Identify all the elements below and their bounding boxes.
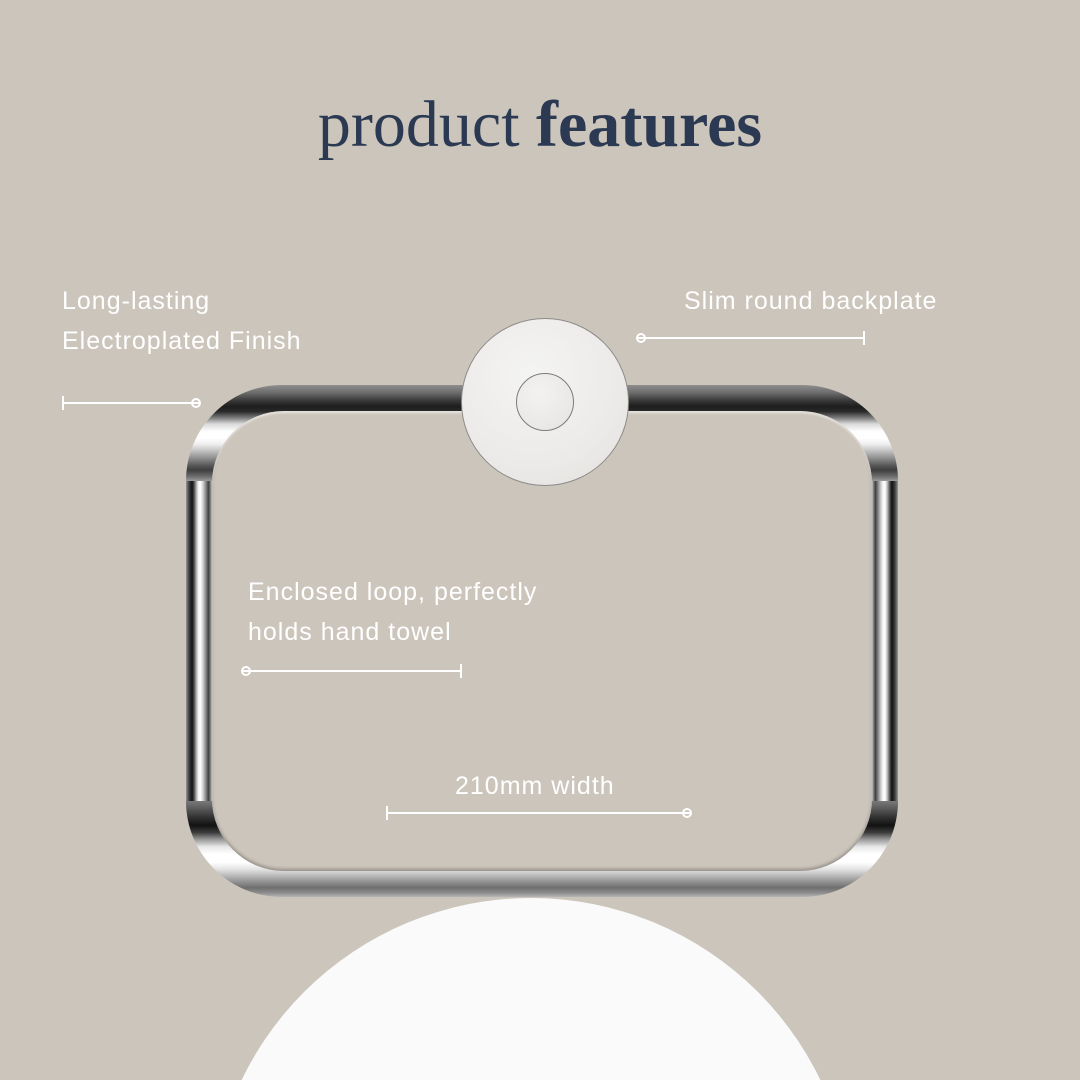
backplate-hub [516,373,574,431]
leader-tick [460,664,462,678]
leader-endpoint-dot [241,666,251,676]
backdrop-circle [210,898,852,1080]
annotation-backplate-line-1: Slim round backplate [684,281,937,321]
leader-endpoint-dot [191,398,201,408]
page-title-light: product [318,88,520,161]
annotation-finish-line-1: Long-lasting [62,281,210,321]
leader-line-width [386,806,691,820]
leader-bar [242,670,462,672]
leader-bar [637,337,865,339]
leader-line-finish [62,396,200,410]
leader-tick [386,806,388,820]
page-title-bold: features [536,88,762,161]
leader-line-backplate [637,331,865,345]
leader-bar [386,812,691,814]
leader-endpoint-dot [636,333,646,343]
leader-line-loop [242,664,462,678]
leader-tick [863,331,865,345]
annotation-loop-line-2: holds hand towel [248,612,452,652]
leader-bar [62,402,200,404]
annotation-finish-line-2: Electroplated Finish [62,321,302,361]
page-title: product features [0,92,1080,158]
leader-endpoint-dot [682,808,692,818]
product-feature-infographic: product features Long-lasting Electropla… [0,0,1080,1080]
ring-limb-left [186,481,212,801]
annotation-loop-line-1: Enclosed loop, perfectly [248,572,537,612]
ring-limb-right [872,481,898,801]
leader-tick [62,396,64,410]
annotation-width-label: 210mm width [455,766,615,806]
